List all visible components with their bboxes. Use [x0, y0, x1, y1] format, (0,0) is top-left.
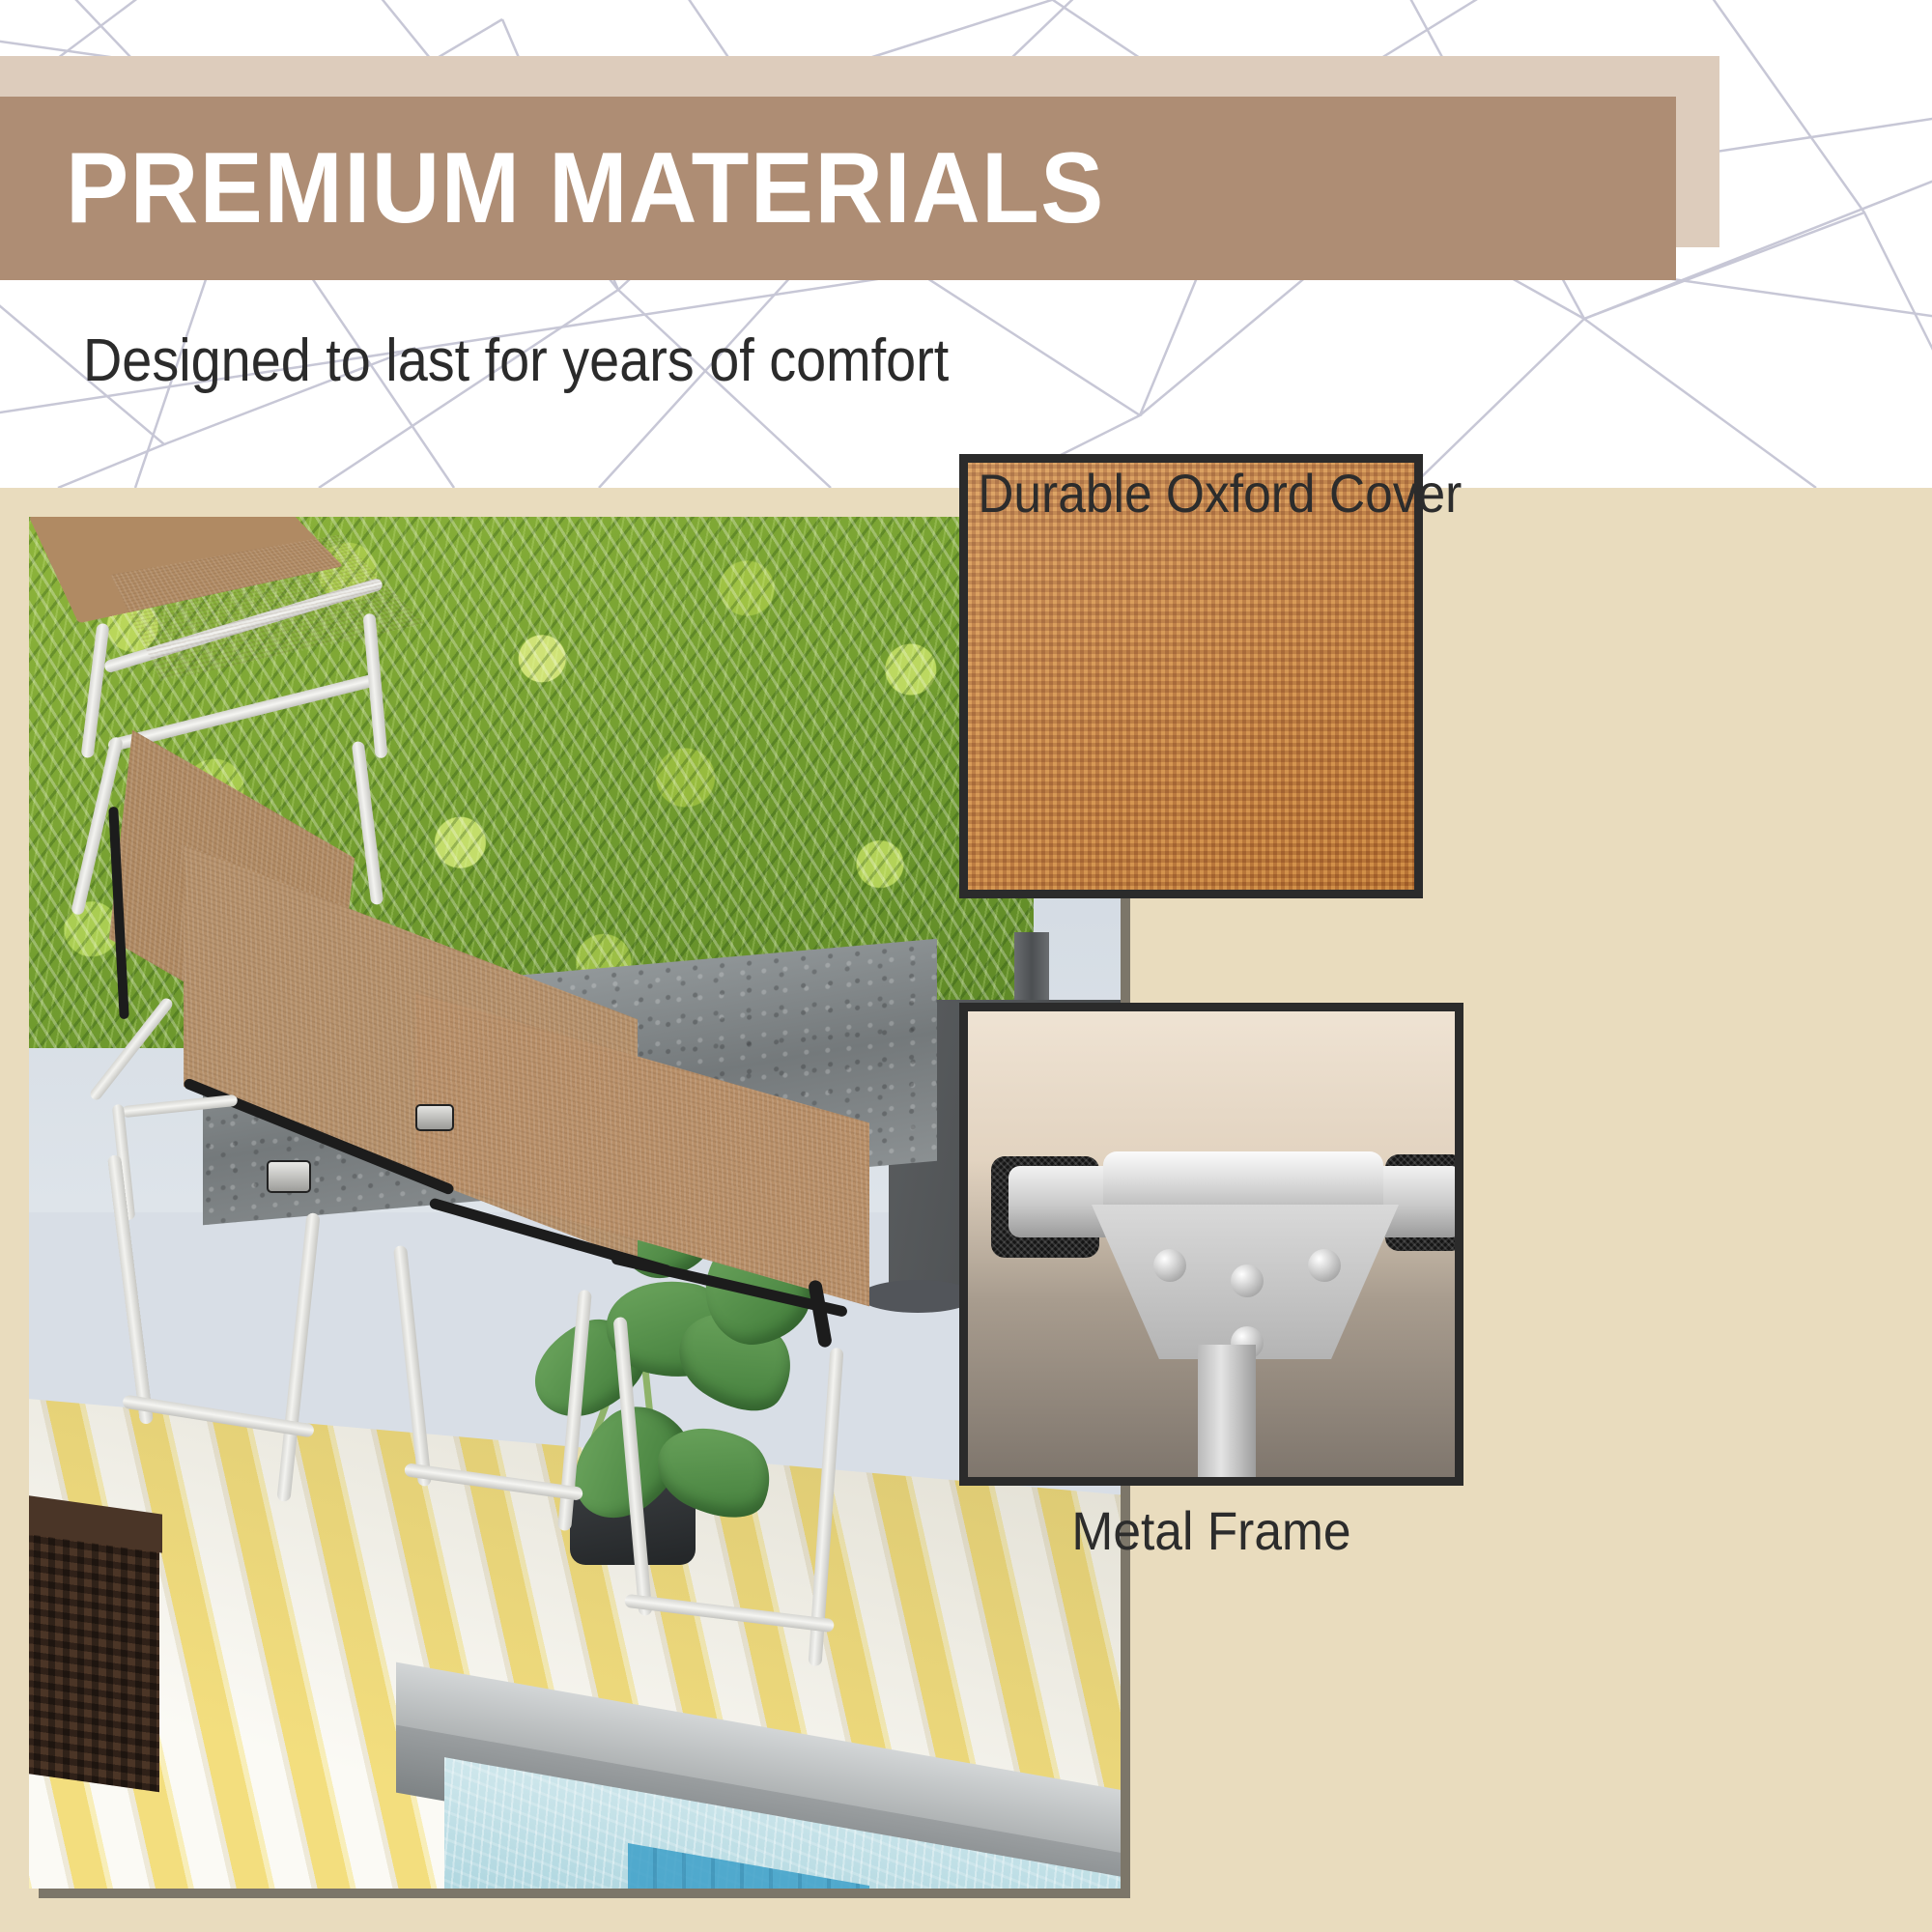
- canopy-post: [352, 741, 384, 905]
- bracket-screw: [1308, 1249, 1341, 1282]
- side-rail: [88, 996, 174, 1102]
- armrest-bar: [122, 1094, 239, 1118]
- folding-sun-lounger: [29, 517, 1121, 1889]
- metal-frame-bracket-closeup: [959, 1003, 1463, 1486]
- page-title: PREMIUM MATERIALS: [66, 97, 1555, 280]
- recline-adjustment-bracket: [267, 1160, 311, 1193]
- bracket-screw: [1153, 1249, 1186, 1282]
- middle-leg: [393, 1245, 432, 1487]
- metal-frame-caption: Metal Frame: [980, 1499, 1443, 1562]
- hinge-bracket: [415, 1104, 454, 1131]
- bracket-screw: [1231, 1264, 1264, 1297]
- rear-leg: [613, 1317, 653, 1616]
- vertical-leg-tube: [1198, 1345, 1256, 1486]
- main-product-photo: [29, 517, 1121, 1889]
- oxford-sheen-overlay: [968, 463, 1414, 890]
- front-leg: [276, 1212, 320, 1502]
- page-subtitle: Designed to last for years of comfort: [83, 327, 949, 395]
- product-infographic: PREMIUM MATERIALS Designed to last for y…: [0, 0, 1932, 1932]
- oxford-cover-caption: Durable Oxford Cover: [978, 462, 1405, 525]
- header-section: PREMIUM MATERIALS Designed to last for y…: [0, 0, 1932, 488]
- rear-leg-crossbar: [624, 1594, 835, 1633]
- detail-card-metal-frame: [959, 1003, 1463, 1486]
- canopy-support-arm: [81, 623, 110, 759]
